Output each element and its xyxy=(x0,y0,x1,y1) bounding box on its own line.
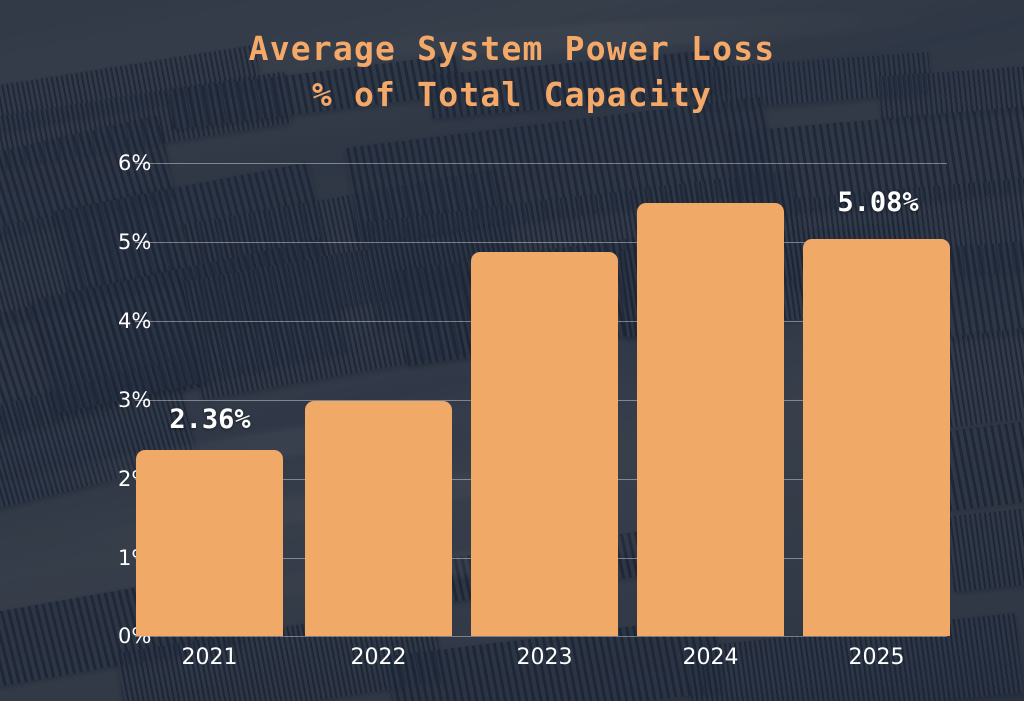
chart-title-block: Average System Power Loss % of Total Cap… xyxy=(0,26,1024,118)
x-tick-2021: 2021 xyxy=(136,645,283,670)
bar-2021[interactable] xyxy=(136,450,283,636)
x-tick-2022: 2022 xyxy=(305,645,452,670)
bar-2023[interactable] xyxy=(471,252,618,636)
chart-title-line-1: Average System Power Loss xyxy=(0,26,1024,72)
bar-2022[interactable] xyxy=(305,401,452,636)
data-label-2021: 2.36% xyxy=(130,404,290,435)
data-label-2025: 5.08% xyxy=(798,187,958,218)
x-tick-2023: 2023 xyxy=(471,645,618,670)
bar-2024[interactable] xyxy=(637,203,784,636)
x-tick-2025: 2025 xyxy=(803,645,950,670)
gridline-6pct xyxy=(135,163,947,164)
bar-2025[interactable] xyxy=(803,239,950,636)
x-tick-2024: 2024 xyxy=(637,645,784,670)
chart-image: Average System Power Loss % of Total Cap… xyxy=(0,0,1024,701)
gridline-0pct xyxy=(135,636,947,637)
chart-title-line-2: % of Total Capacity xyxy=(0,72,1024,118)
